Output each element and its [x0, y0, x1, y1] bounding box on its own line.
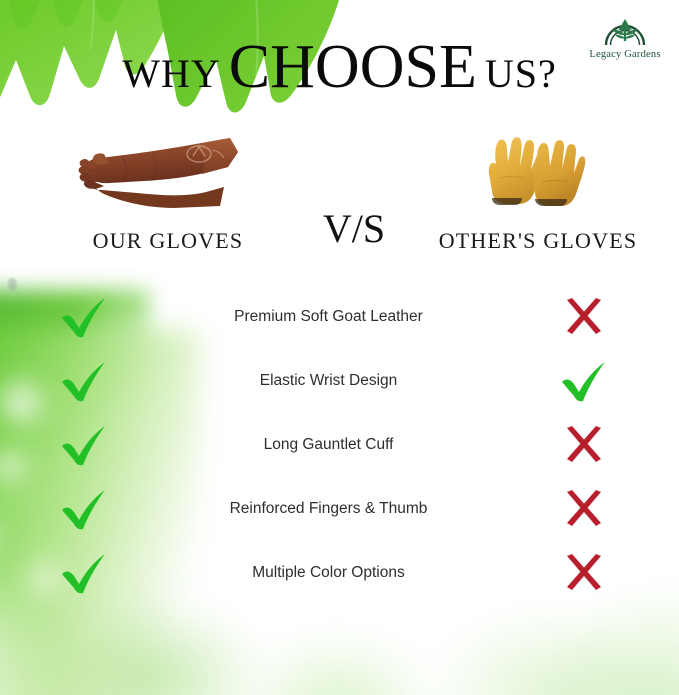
title-word-us: US?: [485, 51, 557, 96]
versus-label: V/S: [302, 205, 406, 252]
page-title: WHYCHOOSEUS?: [0, 36, 679, 98]
green-check-icon: [558, 358, 610, 404]
table-row: Reinforced Fingers & Thumb: [0, 477, 679, 541]
feature-label: Elastic Wrist Design: [168, 371, 489, 391]
other-gloves-caption: OTHER'S GLOVES: [438, 228, 638, 254]
infographic-canvas: WHYCHOOSEUS? Legacy Gardens: [0, 0, 679, 695]
green-check-icon: [58, 422, 110, 468]
brand-name-label: Legacy Gardens: [579, 49, 671, 60]
feature-label: Multiple Color Options: [168, 563, 489, 583]
our-mark-cell: [0, 486, 168, 532]
other-mark-cell: [489, 358, 679, 404]
other-mark-cell: [489, 296, 679, 338]
feature-label: Premium Soft Goat Leather: [168, 307, 489, 327]
table-row: Premium Soft Goat Leather: [0, 285, 679, 349]
green-check-icon: [58, 486, 110, 532]
table-row: Elastic Wrist Design: [0, 349, 679, 413]
red-cross-icon: [562, 552, 606, 594]
title-word-why: WHY: [122, 51, 221, 96]
our-mark-cell: [0, 294, 168, 340]
red-cross-icon: [562, 488, 606, 530]
our-gloves-caption: OUR GLOVES: [68, 228, 268, 254]
our-mark-cell: [0, 550, 168, 596]
table-row: Multiple Color Options: [0, 541, 679, 605]
other-mark-cell: [489, 488, 679, 530]
feature-label: Long Gauntlet Cuff: [168, 435, 489, 455]
feature-label: Reinforced Fingers & Thumb: [168, 499, 489, 519]
our-mark-cell: [0, 422, 168, 468]
brand-logo: Legacy Gardens: [579, 12, 671, 60]
green-check-icon: [58, 358, 110, 404]
garden-arch-leaf-emblem-icon: [603, 12, 647, 48]
other-mark-cell: [489, 552, 679, 594]
other-gloves-image: [478, 128, 598, 216]
green-check-icon: [58, 294, 110, 340]
red-cross-icon: [562, 296, 606, 338]
comparison-table: Premium Soft Goat Leather Elastic Wrist …: [0, 285, 679, 605]
green-check-icon: [58, 550, 110, 596]
other-mark-cell: [489, 424, 679, 466]
our-gloves-image: [78, 132, 258, 212]
table-row: Long Gauntlet Cuff: [0, 413, 679, 477]
red-cross-icon: [562, 424, 606, 466]
our-mark-cell: [0, 358, 168, 404]
title-word-choose: CHOOSE: [229, 33, 477, 101]
